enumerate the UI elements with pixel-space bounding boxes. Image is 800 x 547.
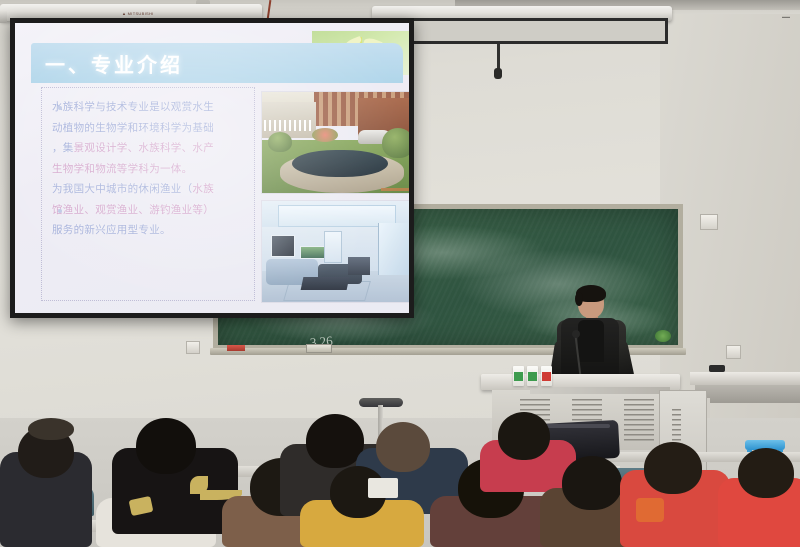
audience-head <box>306 414 364 468</box>
bullet-icon <box>58 106 62 110</box>
projection-screen[interactable]: 一、专业介绍 水族科学与技术专业是以观赏水生 动植物的生物学和环境科学为基础 ，… <box>10 18 414 318</box>
audience-head <box>498 412 550 460</box>
milk-carton-2[interactable] <box>527 366 538 386</box>
room-wall-art <box>271 235 295 257</box>
slide-line-5: 为我国大中城市的休闲渔业（水族 <box>52 179 248 200</box>
bag-strap <box>546 424 610 428</box>
classroom-scene: ▲ MITSUBISHI ▬▬ 3.26 一、专业介绍 <box>0 0 800 547</box>
podium-vent <box>624 399 654 443</box>
photo-watermark <box>381 188 409 191</box>
audience-head-highlight <box>28 418 74 440</box>
room-doorway <box>324 231 342 263</box>
roller-brand-label: ▲ MITSUBISHI <box>122 11 164 17</box>
room-coffee-table <box>301 277 350 290</box>
audience-head <box>738 448 794 498</box>
orange-handbag[interactable] <box>636 498 664 522</box>
garden-pond <box>292 150 388 177</box>
audience-head <box>376 422 430 472</box>
room-window <box>378 223 409 275</box>
podium-microphone-head[interactable] <box>572 330 580 338</box>
slide-line-1: 水族科学与技术专业是以观赏水生 <box>52 97 248 118</box>
slide-line-2: 动植物的生物学和环境科学为基础 <box>52 118 248 139</box>
roller-brand-label-2: ▬▬ <box>782 14 800 20</box>
garden-planter <box>312 128 338 142</box>
milk-carton-3[interactable] <box>541 366 552 386</box>
wall-outlet-upper[interactable] <box>700 214 718 230</box>
speaker-hair-side <box>575 292 583 306</box>
bullet-icon <box>58 209 62 213</box>
secondary-projection-screen[interactable] <box>376 18 668 44</box>
garden-railing <box>264 120 314 131</box>
garden-bush <box>382 128 409 158</box>
wall-outlet-lower[interactable] <box>726 345 741 359</box>
room-dining-set <box>348 257 370 275</box>
presentation-slide: 一、专业介绍 水族科学与技术专业是以观赏水生 动植物的生物学和环境科学为基础 ，… <box>15 23 409 313</box>
audience-head <box>562 456 622 510</box>
slide-line-6: 馆渔业、观赏渔业、游钓渔业等） <box>52 200 248 221</box>
audience-head <box>644 442 702 494</box>
board-corner-sticker <box>655 330 671 342</box>
audience-head <box>136 418 196 474</box>
garden-bush <box>268 132 292 152</box>
slide-line-3: ，集景观设计学、水族科学、水产 <box>52 138 248 159</box>
slide-photo-garden-pond <box>261 91 409 194</box>
slide-body-textbox: 水族科学与技术专业是以观赏水生 动植物的生物学和环境科学为基础 ，集景观设计学、… <box>41 87 255 301</box>
slide-line-7: 服务的新兴应用型专业。 <box>52 220 248 241</box>
speaker-shirt <box>578 320 604 362</box>
milk-carton-1[interactable] <box>513 366 524 386</box>
paper-sheet[interactable] <box>368 478 398 498</box>
podium-shelf <box>530 387 670 394</box>
wall-switch-left[interactable] <box>186 341 200 354</box>
desk-telephone[interactable] <box>709 365 725 372</box>
side-desk-surface[interactable] <box>690 372 800 385</box>
roller-cap-left <box>0 10 7 23</box>
chalk-box-red[interactable] <box>227 345 245 351</box>
side-desk-apron <box>695 385 800 403</box>
board-eraser[interactable] <box>306 344 332 353</box>
slide-title: 一、专业介绍 <box>45 49 183 78</box>
slide-line-4: 生物学和物流等学科为一体。 <box>52 159 248 180</box>
screen-pull-knob[interactable] <box>494 68 502 79</box>
slide-photo-living-room <box>261 200 409 303</box>
